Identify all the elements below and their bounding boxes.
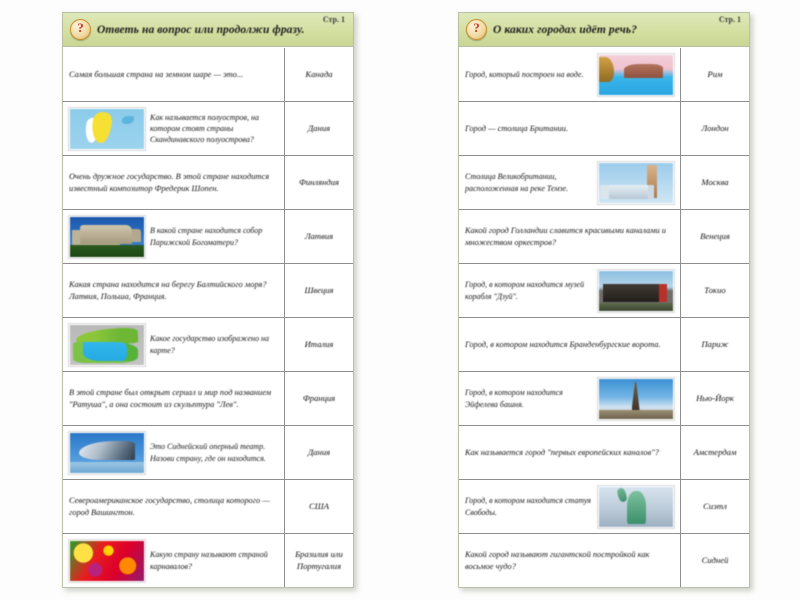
- question-text: Самая большая страна на земном шаре — эт…: [69, 69, 278, 81]
- answer-cell: Париж: [681, 318, 749, 371]
- table-row: Город, в котором находится Бранденбургск…: [459, 318, 749, 372]
- answer-text: Рим: [707, 69, 722, 80]
- question-text: В этой стране был открыт сериал и мир по…: [69, 387, 278, 410]
- panel-title: Ответь на вопрос или продолжи фразу.: [97, 24, 305, 36]
- big-ben-london-thumbnail: [598, 162, 674, 204]
- question-cell: Какая страна находится на берегу Балтийс…: [63, 264, 285, 317]
- panel-header-cities: ?О каких городах идёт речь?Стр. 1: [459, 13, 749, 47]
- eiffel-tower-paris-thumbnail: [598, 378, 674, 420]
- question-text: Какое государство изображено на карте?: [150, 333, 278, 355]
- scandinavia-map-thumbnail: [69, 108, 145, 150]
- answer-text: Париж: [701, 339, 728, 350]
- answer-text: Нью-Йорк: [696, 393, 734, 404]
- answer-text: Сидней: [702, 555, 729, 566]
- question-cell: Столица Великобритании, расположенная на…: [459, 156, 681, 209]
- answer-cell: Латвия: [285, 210, 353, 263]
- table-row: Какой город Голландии славится красивыми…: [459, 210, 749, 264]
- table-row: Город, в котором находится Эйфелева башн…: [459, 372, 749, 426]
- table-row: Североамериканское государство, столица …: [63, 480, 353, 534]
- page-tag: Стр. 1: [719, 15, 741, 24]
- answer-text: Канада: [305, 69, 332, 80]
- question-text: Какую страну называют страной карнавалов…: [150, 549, 278, 571]
- answer-cell: Сидней: [681, 534, 749, 587]
- table-row: Город, в котором находится музей корабля…: [459, 264, 749, 318]
- question-text: Как называется город "первых европейских…: [465, 447, 674, 459]
- table-row: Самая большая страна на земном шаре — эт…: [63, 48, 353, 102]
- question-text: Столица Великобритании, расположенная на…: [465, 171, 593, 193]
- question-cell: В этой стране был открыт сериал и мир по…: [63, 372, 285, 425]
- answer-cell: Италия: [285, 318, 353, 371]
- question-text: Какая страна находится на берегу Балтийс…: [69, 279, 278, 302]
- question-text: Какой город называют гигантской постройк…: [465, 549, 674, 572]
- question-cell: Город, в котором находится Бранденбургск…: [459, 318, 681, 371]
- worksheet-canvas: ?Ответь на вопрос или продолжи фразу.Стр…: [0, 0, 800, 600]
- answer-text: Венеция: [700, 231, 730, 242]
- answer-cell: Дания: [285, 102, 353, 155]
- table-row: В какой стране находится собор Парижской…: [63, 210, 353, 264]
- answer-cell: Финляндия: [285, 156, 353, 209]
- carnival-festival-thumbnail: [69, 540, 145, 582]
- quiz-panel-cities: ?О каких городах идёт речь?Стр. 1Город, …: [458, 12, 750, 588]
- question-text: Североамериканское государство, столица …: [69, 495, 278, 518]
- table-row: Какой город называют гигантской постройк…: [459, 534, 749, 587]
- table-row: Какое государство изображено на карте?Ит…: [63, 318, 353, 372]
- answer-text: США: [309, 501, 329, 512]
- answer-cell: Канада: [285, 48, 353, 101]
- answer-cell: Сиэтл: [681, 480, 749, 533]
- table-row: Город, который построен на воде.Рим: [459, 48, 749, 102]
- question-text: Город, в котором находится статуя Свобод…: [465, 495, 593, 517]
- quiz-panel-countries: ?Ответь на вопрос или продолжи фразу.Стр…: [62, 12, 354, 588]
- question-text: Город, который построен на воде.: [465, 69, 593, 80]
- panel-header-countries: ?Ответь на вопрос или продолжи фразу.Стр…: [63, 13, 353, 47]
- answer-text: Латвия: [305, 231, 333, 242]
- quiz-table-countries: Самая большая страна на земном шаре — эт…: [63, 47, 353, 587]
- question-text: Город, в котором находится музей корабля…: [465, 279, 593, 301]
- answer-text: Сиэтл: [703, 501, 727, 512]
- question-cell: Самая большая страна на земном шаре — эт…: [63, 48, 285, 101]
- question-text: Город — столица Британии.: [465, 123, 674, 135]
- question-cell: Город, в котором находится музей корабля…: [459, 264, 681, 317]
- question-text: Как называется полуостров, на котором ст…: [150, 112, 278, 145]
- answer-cell: Лондон: [681, 102, 749, 155]
- question-text: В какой стране находится собор Парижской…: [150, 225, 278, 247]
- question-cell: Североамериканское государство, столица …: [63, 480, 285, 533]
- question-cell: Какое государство изображено на карте?: [63, 318, 285, 371]
- question-cell: Какую страну называют страной карнавалов…: [63, 534, 285, 587]
- answer-cell: Москва: [681, 156, 749, 209]
- answer-text: Бразилия или Португалия: [288, 549, 350, 571]
- table-row: Город, в котором находится статуя Свобод…: [459, 480, 749, 534]
- table-row: Как называется полуостров, на котором ст…: [63, 102, 353, 156]
- answer-text: Дания: [308, 123, 330, 134]
- statue-of-liberty-thumbnail: [598, 486, 674, 528]
- question-cell: Город — столица Британии.: [459, 102, 681, 155]
- table-row: Как называется город "первых европейских…: [459, 426, 749, 480]
- answer-text: Швеция: [304, 285, 333, 296]
- answer-text: Франция: [303, 393, 335, 404]
- table-row: Какую страну называют страной карнавалов…: [63, 534, 353, 587]
- question-mark-badge-icon: ?: [70, 19, 91, 40]
- question-cell: Город, в котором находится статуя Свобод…: [459, 480, 681, 533]
- question-cell: Как называется полуостров, на котором ст…: [63, 102, 285, 155]
- table-row: Город — столица Британии.Лондон: [459, 102, 749, 156]
- question-cell: Как называется город "первых европейских…: [459, 426, 681, 479]
- panel-title: О каких городах идёт речь?: [493, 24, 637, 36]
- answer-cell: Амстердам: [681, 426, 749, 479]
- answer-cell: Франция: [285, 372, 353, 425]
- question-text: Это Сиднейский оперный театр. Назови стр…: [150, 441, 278, 463]
- page-tag: Стр. 1: [323, 15, 345, 24]
- tokyo-building-thumbnail: [598, 270, 674, 312]
- question-text: Город, в котором находится Бранденбургск…: [465, 339, 674, 351]
- answer-text: Финляндия: [299, 177, 339, 188]
- question-cell: Какой город Голландии славится красивыми…: [459, 210, 681, 263]
- answer-text: Москва: [701, 177, 728, 188]
- table-row: В этой стране был открыт сериал и мир по…: [63, 372, 353, 426]
- answer-text: Амстердам: [694, 447, 737, 458]
- sydney-opera-house-thumbnail: [69, 432, 145, 474]
- answer-text: Италия: [305, 339, 334, 350]
- answer-cell: Токио: [681, 264, 749, 317]
- answer-text: Лондон: [701, 123, 728, 134]
- cathedral-castle-thumbnail: [69, 216, 145, 258]
- question-text: Очень дружное государство. В этой стране…: [69, 171, 278, 194]
- answer-cell: Бразилия или Португалия: [285, 534, 353, 587]
- question-cell: Какой город называют гигантской постройк…: [459, 534, 681, 587]
- question-cell: Город, который построен на воде.: [459, 48, 681, 101]
- answer-text: Дания: [308, 447, 330, 458]
- question-cell: Это Сиднейский оперный театр. Назови стр…: [63, 426, 285, 479]
- question-cell: В какой стране находится собор Парижской…: [63, 210, 285, 263]
- table-row: Очень дружное государство. В этой стране…: [63, 156, 353, 210]
- answer-text: Токио: [704, 285, 725, 296]
- italy-map-thumbnail: [69, 324, 145, 366]
- question-text: Город, в котором находится Эйфелева башн…: [465, 387, 593, 409]
- quiz-table-cities: Город, который построен на воде.РимГород…: [459, 47, 749, 587]
- venice-canal-thumbnail: [598, 54, 674, 96]
- answer-cell: США: [285, 480, 353, 533]
- question-cell: Очень дружное государство. В этой стране…: [63, 156, 285, 209]
- answer-cell: Нью-Йорк: [681, 372, 749, 425]
- answer-cell: Венеция: [681, 210, 749, 263]
- question-cell: Город, в котором находится Эйфелева башн…: [459, 372, 681, 425]
- answer-cell: Дания: [285, 426, 353, 479]
- answer-cell: Рим: [681, 48, 749, 101]
- answer-cell: Швеция: [285, 264, 353, 317]
- table-row: Это Сиднейский оперный театр. Назови стр…: [63, 426, 353, 480]
- table-row: Столица Великобритании, расположенная на…: [459, 156, 749, 210]
- question-text: Какой город Голландии славится красивыми…: [465, 225, 674, 248]
- table-row: Какая страна находится на берегу Балтийс…: [63, 264, 353, 318]
- question-mark-badge-icon: ?: [466, 19, 487, 40]
